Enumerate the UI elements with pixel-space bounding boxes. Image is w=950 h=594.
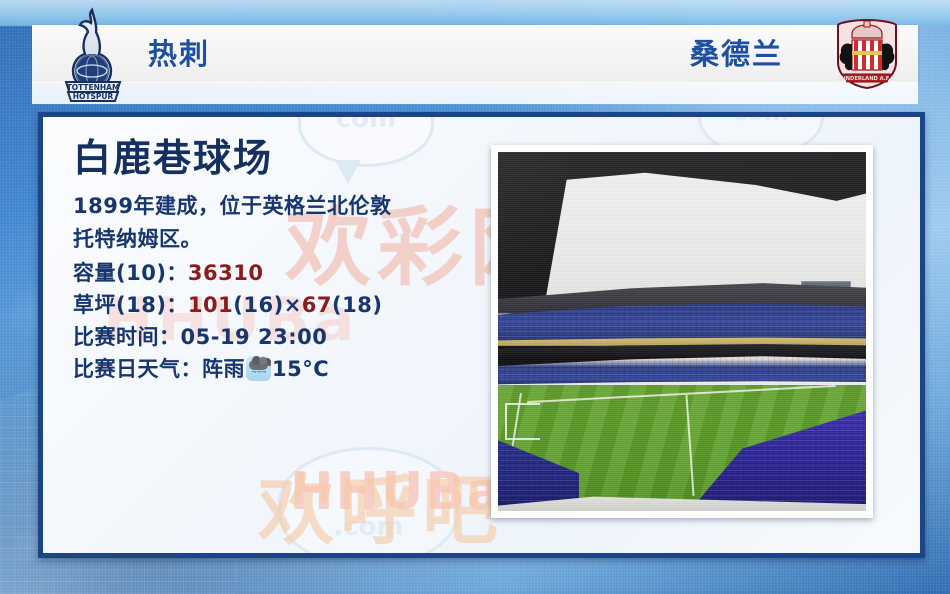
stadium-details: 白鹿巷球场 1899年建成，位于英格兰北伦敦 托特纳姆区。 容量(10)：363… [73,139,493,386]
header-bar-underlay [32,82,918,104]
crest-banner-bottom: HOTSPUR [73,92,114,101]
stadium-description-line-1: 1899年建成，位于英格兰北伦敦 [73,191,493,223]
stadium-title: 白鹿巷球场 [73,139,493,179]
home-team-name: 热刺 [148,31,210,73]
stadium-photo [498,152,866,511]
capacity-row: 容量(10)：36310 [73,258,493,290]
sunderland-afc-crest-icon: SUNDERLAND A.F.C. [832,18,902,90]
shower-rain-icon [246,356,271,381]
pitch-length-value: 101 [188,293,233,317]
tottenham-hotspur-crest-icon: TOTTENHAM HOTSPUR [62,6,124,102]
capacity-label: 容量(10)： [73,261,188,285]
stadium-info-panel: com com .com HHUBa HHUBa 欢彩网 欢呼吧 白鹿巷球场 1… [38,112,925,558]
pitch-row: 草坪(18)：101(16)×67(18) [73,290,493,322]
capacity-value: 36310 [188,261,264,285]
match-time-value: 05-19 23:00 [181,325,328,349]
crest-banner-top: TOTTENHAM [67,83,120,92]
match-time-label: 比赛时间： [73,325,181,349]
weather-condition: 阵雨 [202,357,245,381]
stadium-photo-frame [491,145,873,518]
weather-row: 比赛日天气：阵雨15°C [73,354,493,386]
photo-lower-tier [498,353,866,385]
background-top-glow [0,0,950,26]
watermark-bubble-bottom: .com [278,447,459,558]
pitch-width-unit: (18) [332,293,382,317]
weather-temperature: 15°C [272,357,329,381]
watermark-brand-latin: HHUBa [290,462,504,522]
pitch-width-value: 67 [302,293,332,317]
pitch-label: 草坪(18)： [73,293,188,317]
weather-label: 比赛日天气： [73,357,202,381]
stadium-description-line-2: 托特纳姆区。 [73,224,493,256]
watermark-brand-cn-2: 欢呼吧 [258,449,504,558]
pitch-length-unit: (16) [233,293,283,317]
match-time-row: 比赛时间：05-19 23:00 [73,322,493,354]
away-team-name: 桑德兰 [690,31,783,73]
away-crest-banner: SUNDERLAND A.F.C. [838,76,897,82]
pitch-times-symbol: × [284,293,302,317]
match-stadium-infographic: TOTTENHAM HOTSPUR 热刺 桑德兰 SUNDERLAND A.F.… [0,0,950,594]
photo-goal [505,403,540,439]
